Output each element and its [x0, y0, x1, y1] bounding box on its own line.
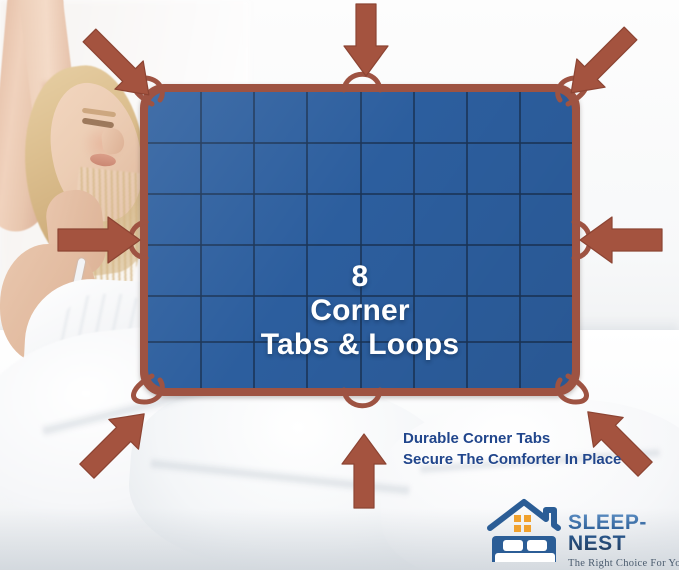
brand-slogan: The Right Choice For You: [568, 558, 678, 569]
pillow: [503, 540, 523, 551]
headline-number: 8: [140, 260, 580, 294]
tagline-line-2: Secure The Comforter In Place: [403, 449, 621, 470]
window-pane: [524, 515, 531, 522]
brand-wordmark: SLEEP-NEST The Right Choice For You: [568, 512, 678, 569]
mattress: [495, 553, 555, 562]
headline-line-3: Tabs & Loops: [140, 328, 580, 362]
headline-line-2: Corner: [140, 294, 580, 328]
brand-name: SLEEP-NEST: [568, 512, 678, 554]
feature-tagline: Durable Corner Tabs Secure The Comforter…: [403, 428, 621, 471]
comforter-headline: 8 Corner Tabs & Loops: [140, 260, 580, 362]
house-with-bed-icon: [484, 498, 570, 564]
window-pane: [524, 525, 531, 532]
pillow: [527, 540, 547, 551]
blue-comforter: 8 Corner Tabs & Loops: [140, 84, 580, 396]
tagline-line-1: Durable Corner Tabs: [403, 428, 621, 449]
window-pane: [514, 515, 521, 522]
window-pane: [514, 525, 521, 532]
product-image: 8 Corner Tabs & Loops: [0, 0, 679, 570]
brand-logo: SLEEP-NEST The Right Choice For You: [484, 498, 674, 564]
